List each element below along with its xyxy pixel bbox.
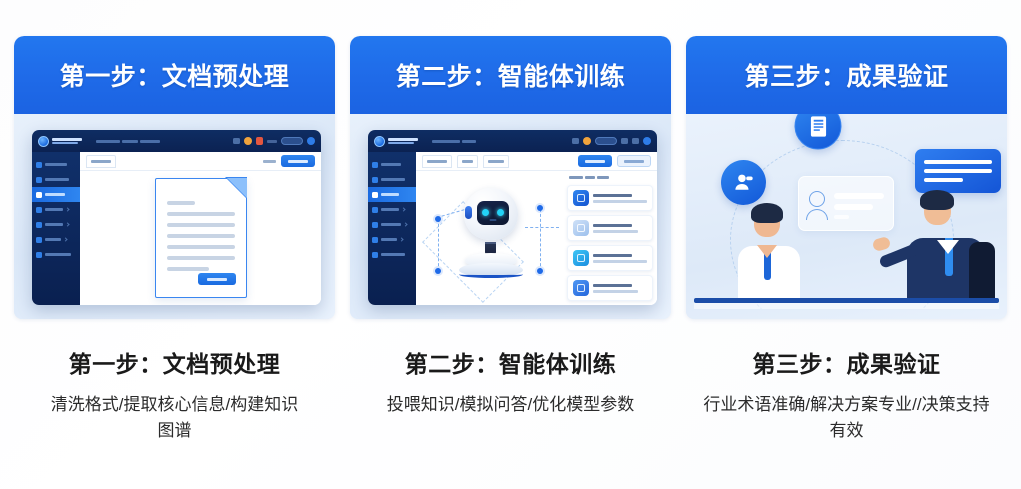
step-1-illustration — [14, 114, 335, 319]
graph-node-1 — [435, 216, 441, 222]
chart-icon — [573, 220, 589, 236]
tabbar-actions-1 — [263, 155, 315, 167]
mail-icon[interactable] — [233, 138, 240, 144]
sidebar-icon — [36, 237, 42, 243]
topbar-subtitle-placeholder — [96, 140, 160, 143]
sidebar-item-5[interactable] — [368, 217, 416, 232]
step-3-card: 第三步：成果验证 — [686, 36, 1007, 319]
list-panel-title — [567, 175, 653, 181]
sidebar-icon — [36, 162, 42, 168]
user-menu-pill[interactable] — [281, 137, 303, 145]
tabbar-2 — [416, 152, 657, 171]
step-3-caption-text: 行业术语准确/解决方案专业//决策支持有效 — [686, 392, 1007, 445]
sidebar-item-6[interactable] — [368, 232, 416, 247]
sidebar-icon — [36, 222, 42, 228]
document-action-button[interactable] — [198, 273, 236, 285]
chevron-right-icon — [63, 237, 67, 241]
step-1-card: 第一步：文档预处理 — [14, 36, 335, 319]
robot-graph-area — [416, 171, 565, 305]
dashboard-body-1 — [32, 152, 321, 305]
app-logo-text — [388, 138, 418, 144]
step-1-caption: 第一步：文档预处理 清洗格式/提取核心信息/构建知识图谱 — [14, 345, 335, 445]
step-2-header-label: 第二步：智能体训练 — [396, 57, 626, 93]
bell-icon[interactable] — [244, 137, 252, 145]
app-logo-text — [52, 138, 82, 144]
dashboard-topbar-1 — [32, 130, 321, 152]
dashboard-main-1 — [80, 152, 321, 305]
sidebar-icon — [372, 207, 378, 213]
person-right — [877, 186, 987, 298]
step-3-caption: 第三步：成果验证 行业术语准确/解决方案专业//决策支持有效 — [686, 345, 1007, 445]
list-item[interactable] — [567, 275, 653, 301]
sidebar-item-2[interactable] — [368, 172, 416, 187]
list-item[interactable] — [567, 245, 653, 271]
connector-line-right — [525, 227, 559, 228]
step-3-caption-title: 第三步：成果验证 — [686, 345, 1007, 379]
person-left-hair — [751, 203, 783, 223]
chevron-right-icon — [65, 207, 69, 211]
page-fold-inner — [227, 178, 247, 198]
topbar-subtitle-placeholder — [432, 140, 476, 143]
connector-line-vert-left — [438, 219, 439, 271]
dashboard-main-2 — [416, 152, 657, 305]
chevron-right-icon — [401, 207, 405, 211]
chat-icon — [573, 280, 589, 296]
robot-head — [464, 188, 518, 240]
step-1-header-label: 第一步：文档预处理 — [60, 57, 290, 93]
sidebar-icon — [372, 177, 378, 183]
verification-scene — [686, 114, 1007, 319]
desk-highlight — [694, 302, 999, 309]
knowledge-icon — [573, 250, 589, 266]
step-card-3: 第三步：成果验证 — [686, 36, 1007, 489]
office-chair — [969, 242, 995, 298]
document-text-lines — [167, 201, 235, 271]
sidebar-icon — [372, 162, 378, 168]
topbar-actions-1 — [233, 137, 315, 145]
primary-action-button[interactable] — [281, 155, 315, 167]
tab-3[interactable] — [483, 155, 509, 168]
robot-face-screen — [477, 201, 509, 225]
sidebar-icon — [36, 192, 42, 198]
robot-ear — [465, 206, 472, 219]
grid-icon[interactable] — [621, 138, 628, 144]
robot-base-ring — [459, 271, 523, 278]
secondary-action-label[interactable] — [263, 160, 276, 163]
sidebar-item-4[interactable] — [368, 202, 416, 217]
three-step-process-infographic: 第一步：文档预处理 — [0, 0, 1021, 489]
step-3-illustration — [686, 114, 1007, 319]
app-logo-icon — [374, 136, 385, 147]
chevron-right-icon — [399, 237, 403, 241]
sidebar-item-7[interactable] — [32, 247, 80, 262]
sidebar-icon — [372, 237, 378, 243]
app-logo-icon — [38, 136, 49, 147]
chevron-right-icon — [65, 222, 69, 226]
sidebar-icon — [36, 177, 42, 183]
dashboard-mock-2 — [368, 130, 657, 305]
graph-node-4 — [537, 268, 543, 274]
list-item[interactable] — [567, 215, 653, 241]
alert-icon[interactable] — [256, 137, 263, 145]
sidebar-icon — [372, 222, 378, 228]
robot-eye-right — [497, 209, 504, 216]
tab-active[interactable] — [86, 155, 116, 168]
dashboard-topbar-2 — [368, 130, 657, 152]
step-3-header: 第三步：成果验证 — [686, 36, 1007, 114]
step-card-1: 第一步：文档预处理 — [14, 36, 335, 489]
panel-line-3 — [834, 215, 849, 219]
step-1-caption-title: 第一步：文档预处理 — [14, 345, 335, 379]
document-illustration — [155, 178, 247, 298]
robot-scene — [416, 171, 657, 305]
secondary-action-button[interactable] — [617, 155, 651, 167]
topbar-actions-2 — [572, 137, 651, 145]
dashboard-body-2 — [368, 152, 657, 305]
tab-2[interactable] — [457, 155, 478, 168]
step-2-caption-title: 第二步：智能体训练 — [350, 345, 671, 379]
graph-node-2 — [537, 205, 543, 211]
canvas-1 — [80, 171, 321, 305]
sidebar-item-active[interactable] — [368, 187, 416, 202]
activity-list-panel — [567, 175, 653, 301]
sidebar-icon — [372, 252, 378, 258]
list-item-text — [593, 284, 647, 293]
canvas-2 — [416, 171, 657, 305]
list-item-text — [593, 224, 647, 233]
step-1-header: 第一步：文档预处理 — [14, 36, 335, 114]
sidebar-item-5[interactable] — [32, 217, 80, 232]
sidebar-item-1[interactable] — [368, 157, 416, 172]
step-2-caption-text: 投喂知识/模拟问答/优化模型参数 — [350, 392, 671, 418]
sidebar-item-2[interactable] — [32, 172, 80, 187]
step-3-header-label: 第三步：成果验证 — [744, 57, 948, 93]
gear-icon[interactable] — [632, 138, 639, 144]
sidebar-icon — [372, 192, 378, 198]
robot-avatar — [459, 188, 523, 278]
sidebar-item-active[interactable] — [32, 187, 80, 202]
bell-icon[interactable] — [583, 137, 591, 145]
list-item-text — [593, 194, 647, 203]
search-field[interactable] — [595, 137, 617, 145]
panel-line-2 — [834, 204, 873, 210]
tabbar-1 — [80, 152, 321, 171]
dashboard-mock-1 — [32, 130, 321, 305]
tab-1[interactable] — [422, 155, 452, 168]
sidebar-item-1[interactable] — [32, 157, 80, 172]
topbar-label-placeholder — [267, 140, 277, 143]
tabbar-actions-2 — [578, 155, 651, 167]
step-2-caption: 第二步：智能体训练 投喂知识/模拟问答/优化模型参数 — [350, 345, 671, 418]
step-1-caption-text: 清洗格式/提取核心信息/构建知识图谱 — [14, 392, 335, 445]
sidebar-icon — [36, 207, 42, 213]
list-item-text — [593, 254, 647, 263]
step-2-illustration — [350, 114, 671, 319]
step-2-header: 第二步：智能体训练 — [350, 36, 671, 114]
list-item[interactable] — [567, 185, 653, 211]
mail-icon[interactable] — [572, 138, 579, 144]
graph-node-3 — [435, 268, 441, 274]
sidebar-2 — [368, 152, 416, 305]
person-left — [724, 193, 816, 298]
avatar[interactable] — [307, 137, 315, 145]
desk-surface — [694, 298, 999, 303]
connector-line-vert-right — [540, 209, 541, 271]
sidebar-item-7[interactable] — [368, 247, 416, 262]
sidebar-item-6[interactable] — [32, 232, 80, 247]
document-icon — [573, 190, 589, 206]
robot-eye-left — [482, 209, 489, 216]
person-right-hair — [920, 190, 954, 210]
robot-mouth — [489, 219, 496, 221]
avatar[interactable] — [643, 137, 651, 145]
step-2-card: 第二步：智能体训练 — [350, 36, 671, 319]
sidebar-1 — [32, 152, 80, 305]
primary-action-button[interactable] — [578, 155, 612, 167]
sidebar-item-4[interactable] — [32, 202, 80, 217]
sidebar-icon — [36, 252, 42, 258]
chevron-right-icon — [403, 222, 407, 226]
step-card-2: 第二步：智能体训练 — [350, 36, 671, 489]
